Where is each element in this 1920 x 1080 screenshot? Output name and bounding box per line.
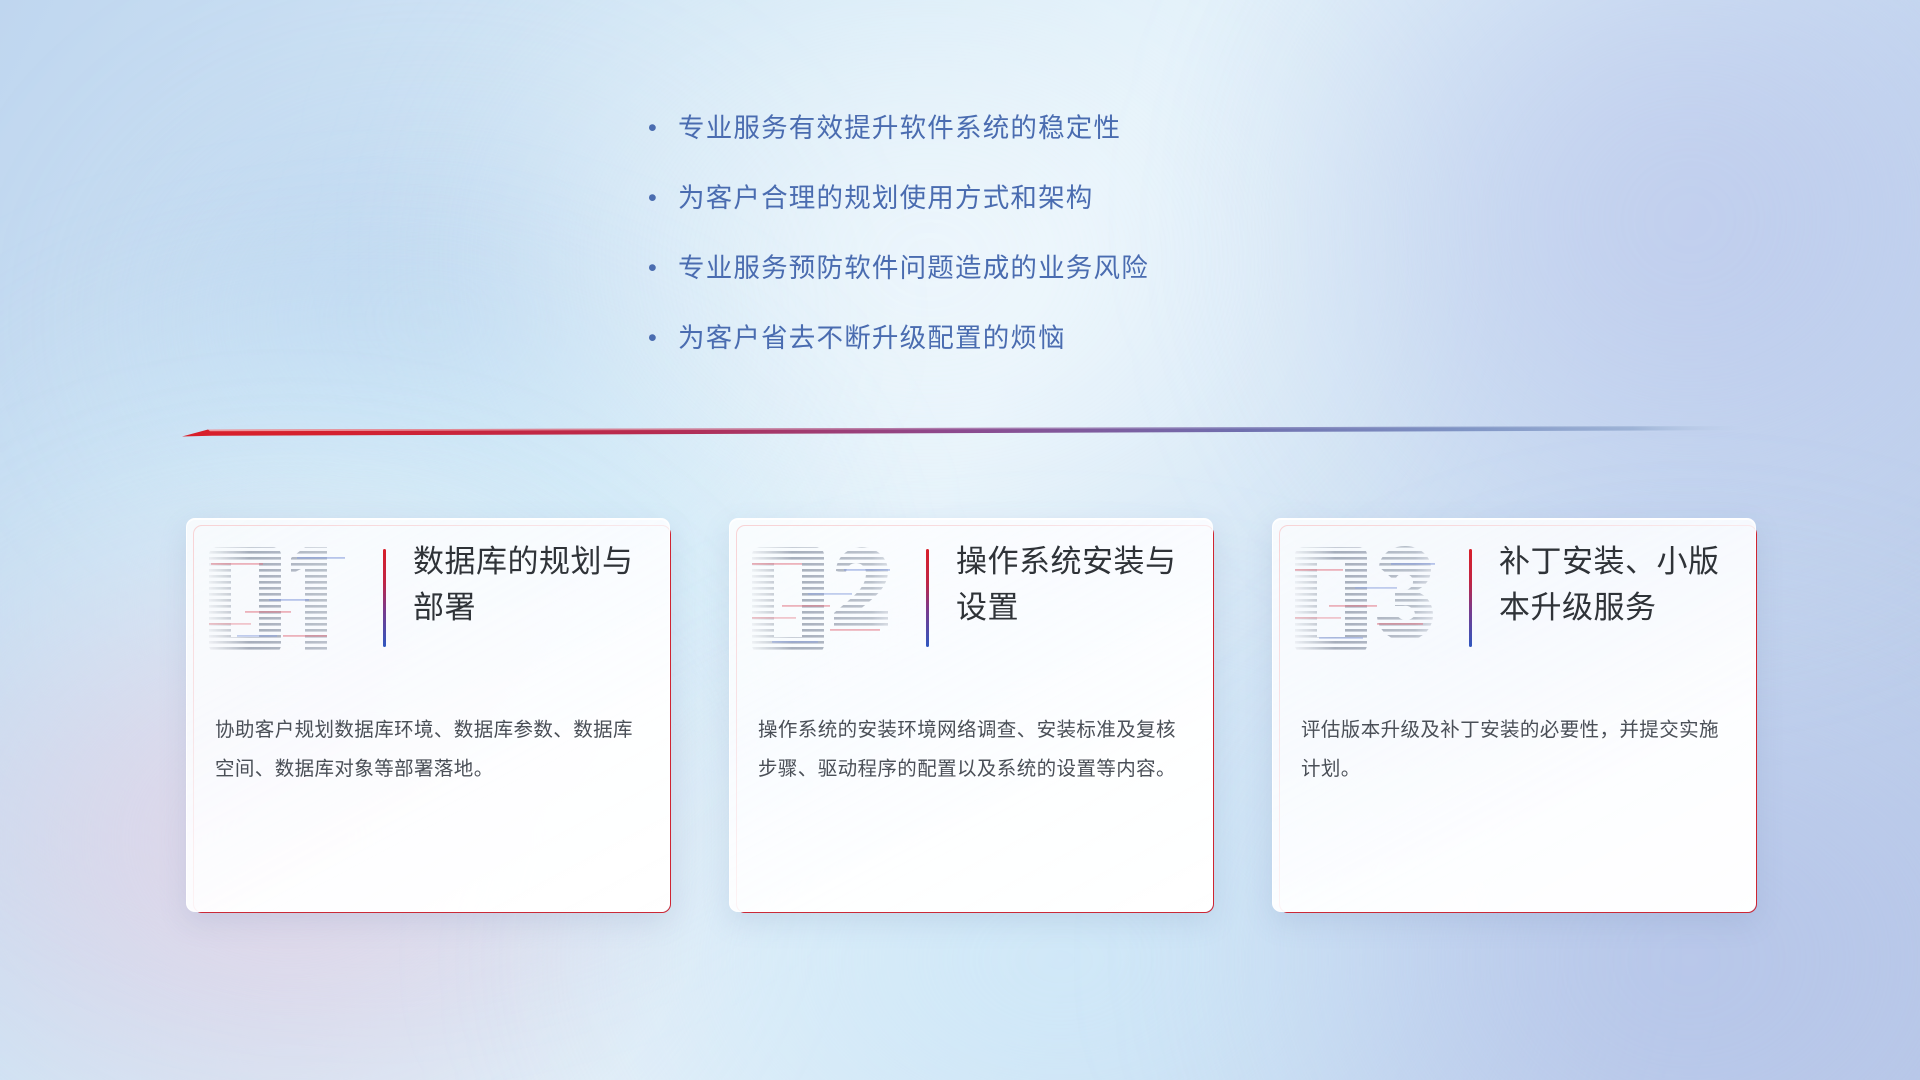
card-surface: 数据库的规划与部署 协助客户规划数据库环境、数据库参数、数据库空间、数据库对象等… [186,518,670,912]
section-divider [182,424,1742,442]
list-item-label: 为客户省去不断升级配置的烦恼 [678,318,1066,358]
service-card-list: 数据库的规划与部署 协助客户规划数据库环境、数据库参数、数据库空间、数据库对象等… [186,518,1756,918]
bullet-dot-icon: • [648,318,678,358]
card-description: 评估版本升级及补丁安装的必要性，并提交实施计划。 [1301,711,1719,789]
card-title-rule [1469,549,1472,647]
card-surface: 操作系统安装与设置 操作系统的安装环境网络调查、安装标准及复核步骤、驱动程序的配… [729,518,1213,912]
card-number-03-icon [1295,541,1455,659]
card-description: 协助客户规划数据库环境、数据库参数、数据库空间、数据库对象等部署落地。 [215,711,633,789]
benefits-list: • 专业服务有效提升软件系统的稳定性 • 为客户合理的规划使用方式和架构 • 专… [648,108,1408,358]
card-description: 操作系统的安装环境网络调查、安装标准及复核步骤、驱动程序的配置以及系统的设置等内… [758,711,1176,789]
slide-canvas: • 专业服务有效提升软件系统的稳定性 • 为客户合理的规划使用方式和架构 • 专… [0,0,1920,1080]
card-title: 数据库的规划与部署 [413,539,653,631]
card-surface: 补丁安装、小版本升级服务 评估版本升级及补丁安装的必要性，并提交实施计划。 [1272,518,1756,912]
card-header: 补丁安装、小版本升级服务 [1273,519,1755,679]
list-item-label: 专业服务预防软件问题造成的业务风险 [678,248,1149,288]
bullet-dot-icon: • [648,178,678,218]
list-item: • 专业服务有效提升软件系统的稳定性 [648,108,1408,148]
list-item-label: 为客户合理的规划使用方式和架构 [678,178,1094,218]
service-card[interactable]: 数据库的规划与部署 协助客户规划数据库环境、数据库参数、数据库空间、数据库对象等… [186,518,668,910]
card-number-02-icon [752,541,912,659]
card-title-rule [926,549,929,647]
list-item-label: 专业服务有效提升软件系统的稳定性 [678,108,1121,148]
bullet-dot-icon: • [648,108,678,148]
service-card[interactable]: 操作系统安装与设置 操作系统的安装环境网络调查、安装标准及复核步骤、驱动程序的配… [729,518,1211,910]
bullet-dot-icon: • [648,248,678,288]
card-header: 数据库的规划与部署 [187,519,669,679]
service-card[interactable]: 补丁安装、小版本升级服务 评估版本升级及补丁安装的必要性，并提交实施计划。 [1272,518,1754,910]
card-number-01-icon [209,541,369,659]
card-title: 操作系统安装与设置 [956,539,1196,631]
card-title-rule [383,549,386,647]
list-item: • 为客户合理的规划使用方式和架构 [648,178,1408,218]
list-item: • 为客户省去不断升级配置的烦恼 [648,318,1408,358]
list-item: • 专业服务预防软件问题造成的业务风险 [648,248,1408,288]
card-header: 操作系统安装与设置 [730,519,1212,679]
card-title: 补丁安装、小版本升级服务 [1499,539,1739,631]
